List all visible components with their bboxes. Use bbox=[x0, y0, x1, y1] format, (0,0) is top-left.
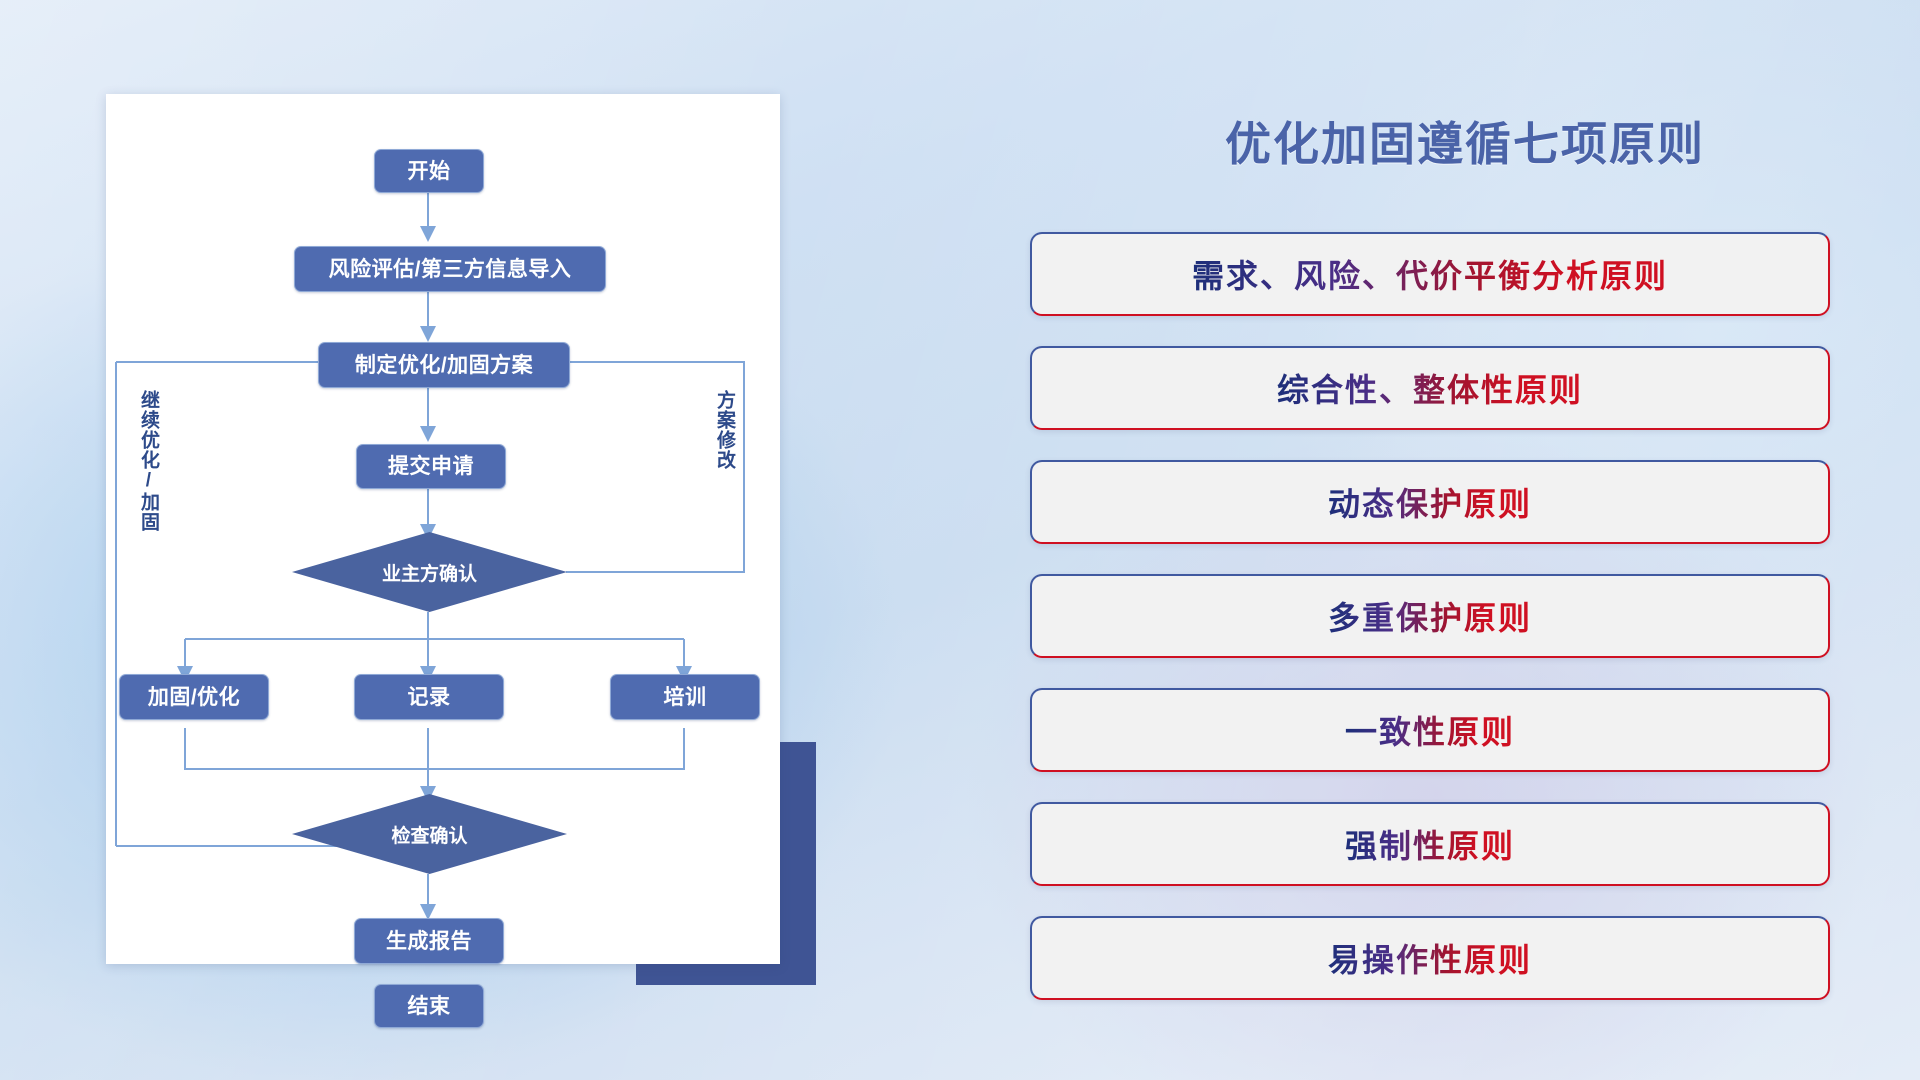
flow-node-plan-label: 制定优化/加固方案 bbox=[355, 355, 533, 376]
flow-node-risk-assessment-label: 风险评估/第三方信息导入 bbox=[329, 259, 572, 280]
principle-item-4[interactable]: 多重保护原则 bbox=[1030, 574, 1830, 658]
principles-list: 需求、风险、代价平衡分析原则 综合性、整体性原则 动态保护原则 多重保护原则 一… bbox=[1030, 232, 1830, 1030]
flow-node-plan[interactable]: 制定优化/加固方案 bbox=[318, 342, 570, 388]
flow-node-end-label: 结束 bbox=[408, 996, 451, 1017]
principle-item-3[interactable]: 动态保护原则 bbox=[1030, 460, 1830, 544]
flow-node-start-label: 开始 bbox=[408, 161, 451, 182]
flow-node-record[interactable]: 记录 bbox=[354, 674, 504, 720]
panel-title: 优化加固遵循七项原则 bbox=[1010, 108, 1920, 174]
principle-item-7-label: 易操作性原则 bbox=[1328, 935, 1532, 981]
flow-node-training-label: 培训 bbox=[664, 687, 707, 708]
principle-item-1[interactable]: 需求、风险、代价平衡分析原则 bbox=[1030, 232, 1830, 316]
flow-node-owner-confirm-label: 业主方确认 bbox=[382, 559, 477, 586]
flowchart-card: 开始 风险评估/第三方信息导入 制定优化/加固方案 提交申请 业主方确认 加固/… bbox=[106, 94, 780, 964]
principles-panel: 优化加固遵循七项原则 需求、风险、代价平衡分析原则 综合性、整体性原则 动态保护… bbox=[1010, 0, 1920, 1080]
principle-item-6-label: 强制性原则 bbox=[1345, 821, 1515, 867]
principle-item-5[interactable]: 一致性原则 bbox=[1030, 688, 1830, 772]
principle-item-6[interactable]: 强制性原则 bbox=[1030, 802, 1830, 886]
flow-node-reinforce-optimize[interactable]: 加固/优化 bbox=[119, 674, 269, 720]
flow-node-risk-assessment[interactable]: 风险评估/第三方信息导入 bbox=[294, 246, 606, 292]
flow-node-generate-report[interactable]: 生成报告 bbox=[354, 918, 504, 964]
flow-node-training[interactable]: 培训 bbox=[610, 674, 760, 720]
principle-item-5-label: 一致性原则 bbox=[1345, 707, 1515, 753]
principle-item-2[interactable]: 综合性、整体性原则 bbox=[1030, 346, 1830, 430]
flow-node-start[interactable]: 开始 bbox=[374, 149, 484, 193]
flow-node-record-label: 记录 bbox=[408, 687, 451, 708]
principle-item-7[interactable]: 易操作性原则 bbox=[1030, 916, 1830, 1000]
principle-item-4-label: 多重保护原则 bbox=[1328, 593, 1532, 639]
principle-item-1-label: 需求、风险、代价平衡分析原则 bbox=[1192, 251, 1668, 297]
flow-node-generate-report-label: 生成报告 bbox=[386, 931, 472, 952]
flow-node-end[interactable]: 结束 bbox=[374, 984, 484, 1028]
flow-node-reinforce-optimize-label: 加固/优化 bbox=[148, 687, 240, 708]
flow-edge-label-left-loop: 继续优化/加固 bbox=[138, 390, 158, 532]
principle-item-3-label: 动态保护原则 bbox=[1328, 479, 1532, 525]
flow-edge-label-right-loop: 方案修改 bbox=[714, 390, 734, 470]
flow-node-check-confirm-label: 检查确认 bbox=[391, 821, 467, 848]
flow-node-submit-application[interactable]: 提交申请 bbox=[356, 444, 506, 489]
flow-node-submit-application-label: 提交申请 bbox=[388, 456, 474, 477]
principle-item-2-label: 综合性、整体性原则 bbox=[1277, 365, 1583, 411]
